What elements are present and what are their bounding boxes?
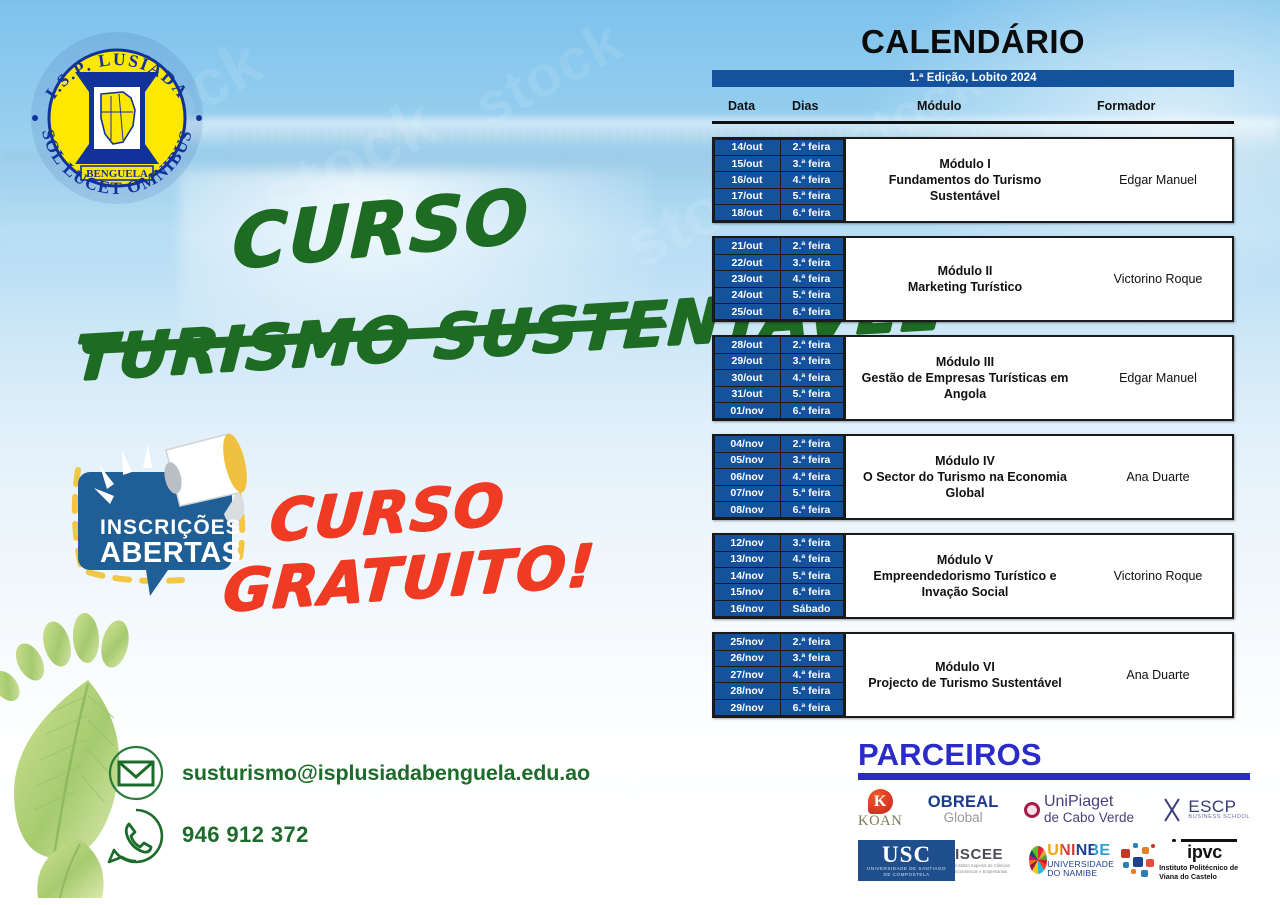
footprint-toes — [0, 612, 133, 706]
usc-subtitle: UNIVERSIDADE DE SANTIAGO DE COMPOSTELA — [865, 866, 948, 878]
date-cell: 27/nov — [714, 666, 781, 683]
koan-name: KOAN — [858, 813, 902, 830]
day-cell: 6.ª feira — [780, 583, 844, 600]
partner-logo-uninbe: UNINBE UNIVERSIDADE DO NAMIBE — [1047, 843, 1159, 878]
module-dates-column: 14/out2.ª feira 15/out3.ª feira 16/out4.… — [714, 139, 844, 221]
module-dates-column: 28/out2.ª feira 29/out3.ª feira 30/out4.… — [714, 337, 844, 419]
column-header-dias: Dias — [792, 99, 818, 113]
column-header-data: Data — [728, 99, 755, 113]
escp-name: ESCP — [1188, 798, 1250, 815]
date-row: 27/nov4.ª feira — [714, 667, 844, 683]
day-cell: 5.ª feira — [780, 188, 844, 205]
day-cell: 5.ª feira — [780, 485, 844, 502]
ipvc-bar-icon — [1181, 839, 1237, 842]
day-cell: 4.ª feira — [780, 369, 844, 386]
module-block: 04/nov2.ª feira 05/nov3.ª feira 06/nov4.… — [712, 434, 1234, 520]
day-cell: 5.ª feira — [780, 386, 844, 403]
module-name: Projecto de Turismo Sustentável — [868, 675, 1062, 691]
day-cell: 2.ª feira — [780, 237, 844, 254]
module-dates-column: 25/nov2.ª feira 26/nov3.ª feira 27/nov4.… — [714, 634, 844, 716]
partner-logo-iscee: ISCEE Instituto Superior de Ciências Eco… — [955, 846, 1047, 874]
module-name: Fundamentos do Turismo Sustentável — [852, 172, 1078, 204]
date-cell: 01/nov — [714, 402, 781, 419]
date-row: 05/nov3.ª feira — [714, 452, 844, 468]
calendar-title: CALENDÁRIO — [712, 22, 1234, 62]
partners-title: PARCEIROS — [858, 738, 1250, 772]
ipvc-name: ipvc — [1187, 844, 1222, 861]
date-cell: 21/out — [714, 237, 781, 254]
column-header-modulo: Módulo — [917, 99, 961, 113]
date-cell: 08/nov — [714, 501, 781, 518]
module-block: 21/out2.ª feira 22/out3.ª feira 23/out4.… — [712, 236, 1234, 322]
module-name-cell: Módulo III Gestão de Empresas Turísticas… — [844, 337, 1084, 419]
module-block: 28/out2.ª feira 29/out3.ª feira 30/out4.… — [712, 335, 1234, 421]
partners-row-1: K KOAN OBREAL Global UniPiaget de Cabo V… — [858, 789, 1250, 830]
date-row: 04/nov2.ª feira — [714, 436, 844, 452]
partners-underline — [858, 773, 1250, 780]
ipvc-subtitle: Instituto Politécnico de Viana do Castel… — [1159, 863, 1250, 882]
date-cell: 31/out — [714, 386, 781, 403]
date-cell: 14/out — [714, 139, 781, 156]
obreal-name: OBREAL — [928, 794, 999, 811]
calendar-edition-banner: 1.ª Edição, Lobito 2024 — [712, 70, 1234, 87]
module-block: 25/nov2.ª feira 26/nov3.ª feira 27/nov4.… — [712, 632, 1234, 718]
day-cell: 2.ª feira — [780, 139, 844, 156]
date-cell: 15/out — [714, 155, 781, 172]
date-cell: 23/out — [714, 270, 781, 287]
badge-line2: ABERTAS — [100, 537, 242, 569]
day-cell: Sábado — [780, 600, 844, 617]
day-cell: 4.ª feira — [780, 468, 844, 485]
day-cell: 3.ª feira — [780, 155, 844, 172]
date-row: 26/nov3.ª feira — [714, 650, 844, 666]
column-header-formador: Formador — [1097, 99, 1155, 113]
module-number: Módulo I — [852, 156, 1078, 172]
date-cell: 15/nov — [714, 583, 781, 600]
day-cell: 3.ª feira — [780, 353, 844, 370]
date-row: 12/nov3.ª feira — [714, 535, 844, 551]
partner-logo-unipiaget: UniPiaget de Cabo Verde — [1024, 794, 1134, 825]
day-cell: 4.ª feira — [780, 551, 844, 568]
usc-name: USC — [882, 844, 931, 866]
date-cell: 30/out — [714, 369, 781, 386]
date-cell: 28/nov — [714, 682, 781, 699]
poster-canvas: stock stock stock stock stock BENGUELA I… — [0, 0, 1280, 905]
date-cell: 18/out — [714, 204, 781, 221]
date-cell: 06/nov — [714, 468, 781, 485]
obreal-subtitle: Global — [944, 811, 983, 825]
partner-logo-escp: ESCP BUSINESS SCHOOL — [1159, 797, 1250, 823]
day-cell: 5.ª feira — [780, 682, 844, 699]
module-trainer-cell: Edgar Manuel — [1084, 337, 1232, 419]
date-row: 16/novSábado — [714, 600, 844, 616]
date-cell: 17/out — [714, 188, 781, 205]
date-row: 14/nov5.ª feira — [714, 568, 844, 584]
date-row: 29/nov6.ª feira — [714, 699, 844, 715]
day-cell: 3.ª feira — [780, 650, 844, 667]
partner-logo-usc: USC UNIVERSIDADE DE SANTIAGO DE COMPOSTE… — [858, 840, 955, 881]
date-row: 31/out5.ª feira — [714, 386, 844, 402]
date-row: 17/out5.ª feira — [714, 188, 844, 204]
day-cell: 6.ª feira — [780, 501, 844, 518]
whatsapp-phone-icon — [105, 806, 167, 864]
module-name: O Sector do Turismo na Economia Global — [852, 469, 1078, 501]
partners-section: PARCEIROS K KOAN OBREAL Global UniPiaget… — [858, 738, 1250, 882]
date-cell: 26/nov — [714, 650, 781, 667]
date-cell: 29/out — [714, 353, 781, 370]
date-row: 07/nov5.ª feira — [714, 485, 844, 501]
date-row: 24/out5.ª feira — [714, 287, 844, 303]
date-cell: 13/nov — [714, 551, 781, 568]
phone-text: 946 912 372 — [182, 822, 309, 848]
date-row: 25/out6.ª feira — [714, 304, 844, 320]
module-trainer-cell: Ana Duarte — [1084, 436, 1232, 518]
date-row: 23/out4.ª feira — [714, 271, 844, 287]
day-cell: 5.ª feira — [780, 287, 844, 304]
date-cell: 16/out — [714, 171, 781, 188]
uninbe-subtitle-2: DO NAMIBE — [1047, 869, 1114, 878]
date-row: 06/nov4.ª feira — [714, 469, 844, 485]
date-row: 15/nov6.ª feira — [714, 584, 844, 600]
email-icon — [105, 744, 167, 802]
day-cell: 6.ª feira — [780, 303, 844, 320]
day-cell: 2.ª feira — [780, 633, 844, 650]
date-row: 13/nov4.ª feira — [714, 551, 844, 567]
date-cell: 07/nov — [714, 485, 781, 502]
module-name: Gestão de Empresas Turísticas em Angola — [852, 370, 1078, 402]
date-cell: 25/out — [714, 303, 781, 320]
contact-email-row[interactable]: susturismo@isplusiadabenguela.edu.ao — [105, 742, 695, 804]
day-cell: 6.ª feira — [780, 699, 844, 716]
date-row: 01/nov6.ª feira — [714, 402, 844, 418]
date-cell: 22/out — [714, 254, 781, 271]
footprint-sole-leaf — [14, 680, 119, 859]
date-cell: 14/nov — [714, 567, 781, 584]
module-name-cell: Módulo IV O Sector do Turismo na Economi… — [844, 436, 1084, 518]
day-cell: 2.ª feira — [780, 435, 844, 452]
uninbe-name: UNINBE — [1047, 843, 1114, 860]
uninbe-dots-icon — [1119, 843, 1159, 877]
date-cell: 12/nov — [714, 534, 781, 551]
module-name-cell: Módulo I Fundamentos do Turismo Sustentá… — [844, 139, 1084, 221]
date-row: 15/out3.ª feira — [714, 155, 844, 171]
module-number: Módulo VI — [868, 659, 1062, 675]
contact-block: susturismo@isplusiadabenguela.edu.ao 946… — [105, 742, 695, 866]
day-cell: 3.ª feira — [780, 254, 844, 271]
sdg-wheel-icon — [1029, 846, 1047, 874]
institution-logo: BENGUELA I.S.P. LUSÍADA SOL LUCET OMNIBU… — [27, 14, 207, 214]
date-cell: 04/nov — [714, 435, 781, 452]
badge-line1: INSCRIÇÕES — [100, 515, 241, 539]
escp-star-icon — [1159, 797, 1185, 823]
module-number: Módulo IV — [852, 453, 1078, 469]
day-cell: 6.ª feira — [780, 204, 844, 221]
module-trainer-cell: Victorino Roque — [1084, 535, 1232, 617]
module-name-cell: Módulo V Empreendedorismo Turístico e In… — [844, 535, 1084, 617]
module-number: Módulo III — [852, 354, 1078, 370]
calendar-section: CALENDÁRIO 1.ª Edição, Lobito 2024 Data … — [712, 22, 1234, 718]
date-cell: 16/nov — [714, 600, 781, 617]
contact-phone-row[interactable]: 946 912 372 — [105, 804, 695, 866]
module-block: 12/nov3.ª feira 13/nov4.ª feira 14/nov5.… — [712, 533, 1234, 619]
partner-logo-koan: K KOAN — [858, 789, 902, 830]
date-cell: 29/nov — [714, 699, 781, 716]
unipiaget-mark-icon — [1024, 802, 1040, 818]
module-trainer-cell: Ana Duarte — [1084, 634, 1232, 716]
partner-logo-ipvc: ipvc Instituto Politécnico de Viana do C… — [1159, 839, 1250, 882]
module-name-cell: Módulo II Marketing Turístico — [844, 238, 1084, 320]
module-dates-column: 12/nov3.ª feira 13/nov4.ª feira 14/nov5.… — [714, 535, 844, 617]
date-cell: 28/out — [714, 336, 781, 353]
date-cell: 05/nov — [714, 452, 781, 469]
date-row: 30/out4.ª feira — [714, 370, 844, 386]
iscee-subtitle: Instituto Superior de Ciências Económica… — [955, 863, 1024, 874]
module-name-cell: Módulo VI Projecto de Turismo Sustentáve… — [844, 634, 1084, 716]
day-cell: 2.ª feira — [780, 336, 844, 353]
date-row: 29/out3.ª feira — [714, 353, 844, 369]
email-text: susturismo@isplusiadabenguela.edu.ao — [182, 761, 590, 786]
date-row: 21/out2.ª feira — [714, 238, 844, 254]
date-row: 16/out4.ª feira — [714, 172, 844, 188]
escp-subtitle: BUSINESS SCHOOL — [1188, 815, 1250, 821]
module-dates-column: 21/out2.ª feira 22/out3.ª feira 23/out4.… — [714, 238, 844, 320]
date-row: 14/out2.ª feira — [714, 139, 844, 155]
day-cell: 6.ª feira — [780, 402, 844, 419]
unipiaget-subtitle: de Cabo Verde — [1044, 811, 1134, 825]
day-cell: 4.ª feira — [780, 270, 844, 287]
calendar-column-headers: Data Dias Módulo Formador — [712, 98, 1234, 124]
day-cell: 3.ª feira — [780, 452, 844, 469]
module-dates-column: 04/nov2.ª feira 05/nov3.ª feira 06/nov4.… — [714, 436, 844, 518]
date-cell: 25/nov — [714, 633, 781, 650]
day-cell: 5.ª feira — [780, 567, 844, 584]
module-trainer-cell: Edgar Manuel — [1084, 139, 1232, 221]
module-name: Empreendedorismo Turístico e Invação Soc… — [852, 568, 1078, 600]
date-row: 25/nov2.ª feira — [714, 634, 844, 650]
partners-row-2: USC UNIVERSIDADE DE SANTIAGO DE COMPOSTE… — [858, 839, 1250, 882]
date-row: 28/nov5.ª feira — [714, 683, 844, 699]
module-number: Módulo V — [852, 552, 1078, 568]
date-row: 18/out6.ª feira — [714, 205, 844, 221]
module-block: 14/out2.ª feira 15/out3.ª feira 16/out4.… — [712, 137, 1234, 223]
koan-mark-icon: K — [868, 789, 893, 814]
date-row: 22/out3.ª feira — [714, 254, 844, 270]
iscee-name: ISCEE — [955, 846, 1024, 863]
date-row: 28/out2.ª feira — [714, 337, 844, 353]
unipiaget-name: UniPiaget — [1044, 794, 1134, 811]
module-trainer-cell: Victorino Roque — [1084, 238, 1232, 320]
day-cell: 3.ª feira — [780, 534, 844, 551]
institution-logo-svg: BENGUELA I.S.P. LUSÍADA SOL LUCET OMNIBU… — [27, 14, 207, 214]
module-name: Marketing Turístico — [908, 279, 1022, 295]
date-row: 08/nov6.ª feira — [714, 501, 844, 517]
day-cell: 4.ª feira — [780, 171, 844, 188]
promo-curso-gratuito: CURSO GRATUITO! — [263, 464, 603, 623]
date-cell: 24/out — [714, 287, 781, 304]
day-cell: 4.ª feira — [780, 666, 844, 683]
partner-logo-obreal: OBREAL Global — [928, 794, 999, 825]
module-number: Módulo II — [908, 263, 1022, 279]
